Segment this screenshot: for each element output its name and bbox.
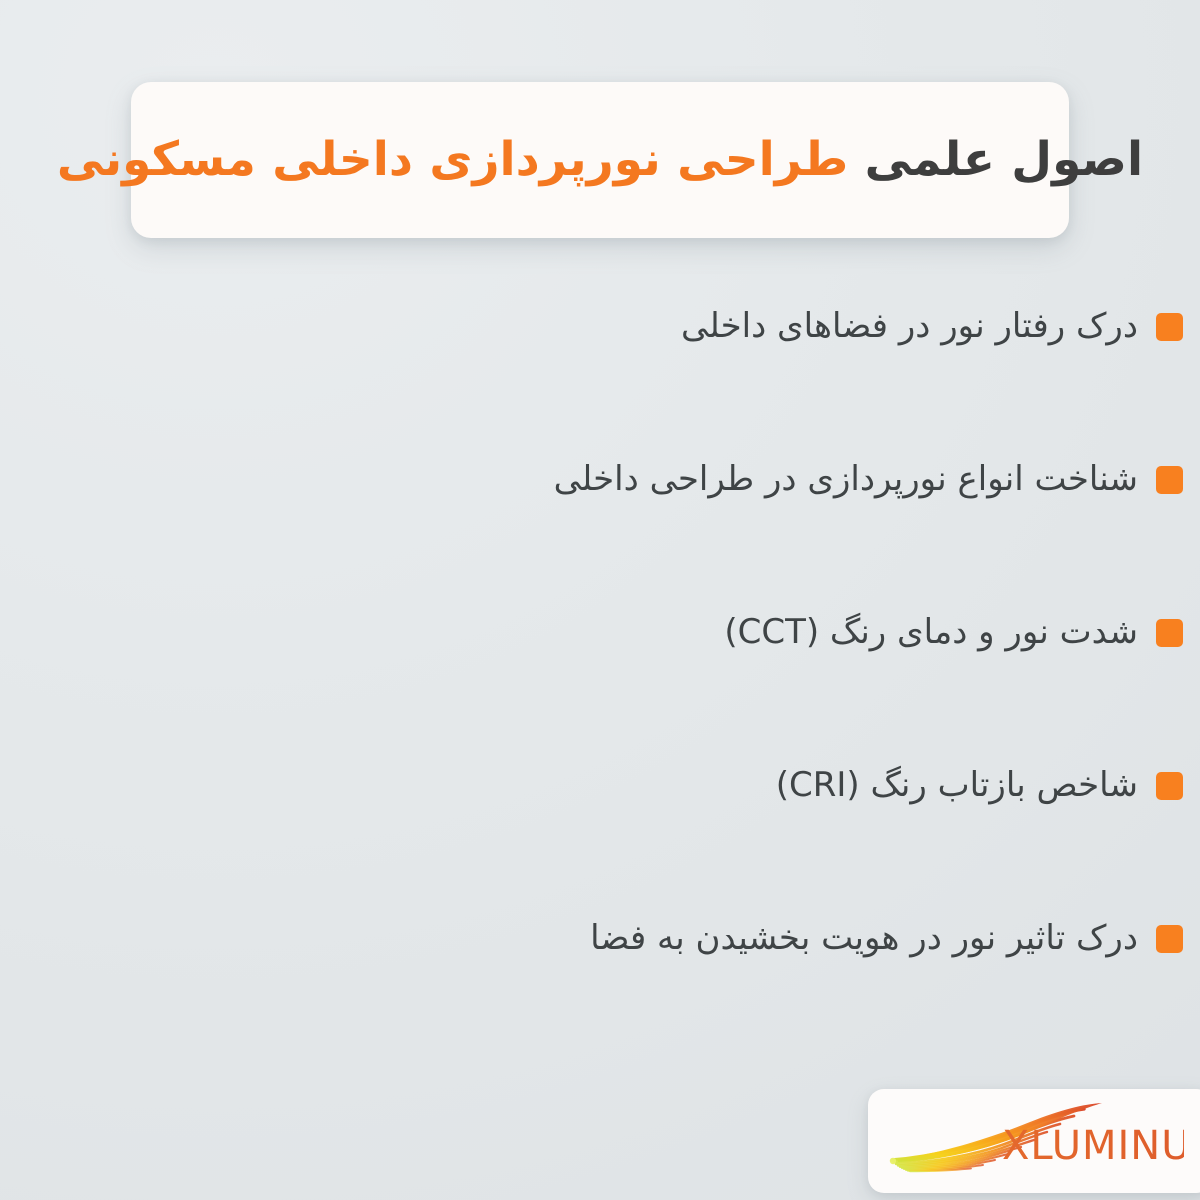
list-item-label: شناخت انواع نورپردازی در طراحی داخلی [286,457,1138,503]
topics-list: درک رفتار نور در فضاهای داخلی شناخت انوا… [0,296,1200,970]
list-item: شناخت انواع نورپردازی در طراحی داخلی [0,449,1200,511]
bullet-marker-wrap [1138,313,1200,341]
poster-canvas: اصول علمی طراحی نورپردازی داخلی مسکونی د… [0,0,1200,1200]
brand-logo: XLUMINUX [884,1103,1184,1179]
bullet-marker-wrap [1138,466,1200,494]
bullet-marker-wrap [1138,925,1200,953]
list-item-label: درک تاثیر نور در هویت بخشیدن به فضا [286,916,1138,962]
orange-square-bullet-icon [1156,619,1183,647]
light-fan-swoosh-icon: XLUMINUX [884,1103,1184,1179]
page-title: اصول علمی طراحی نورپردازی داخلی مسکونی [57,132,1143,187]
bullet-marker-wrap [1138,772,1200,800]
list-item: درک تاثیر نور در هویت بخشیدن به فضا [0,908,1200,970]
orange-square-bullet-icon [1156,925,1183,953]
page-title-accent-segment: طراحی نورپردازی داخلی مسکونی [57,132,848,187]
orange-square-bullet-icon [1156,313,1183,341]
list-item: درک رفتار نور در فضاهای داخلی [0,296,1200,358]
bullet-marker-wrap [1138,619,1200,647]
list-item: شدت نور و دمای رنگ (CCT) [0,602,1200,664]
orange-square-bullet-icon [1156,466,1183,494]
brand-wordmark: XLUMINUX [1002,1123,1184,1169]
title-card: اصول علمی طراحی نورپردازی داخلی مسکونی [131,82,1069,238]
page-title-dark-segment: اصول علمی [848,132,1143,187]
list-item: شاخص بازتاب رنگ (CRI) [0,755,1200,817]
list-item-label: شاخص بازتاب رنگ (CRI) [286,763,1138,809]
brand-logo-card[interactable]: XLUMINUX [868,1089,1200,1193]
orange-square-bullet-icon [1156,772,1183,800]
list-item-label: درک رفتار نور در فضاهای داخلی [286,304,1138,350]
list-item-label: شدت نور و دمای رنگ (CCT) [286,610,1138,656]
